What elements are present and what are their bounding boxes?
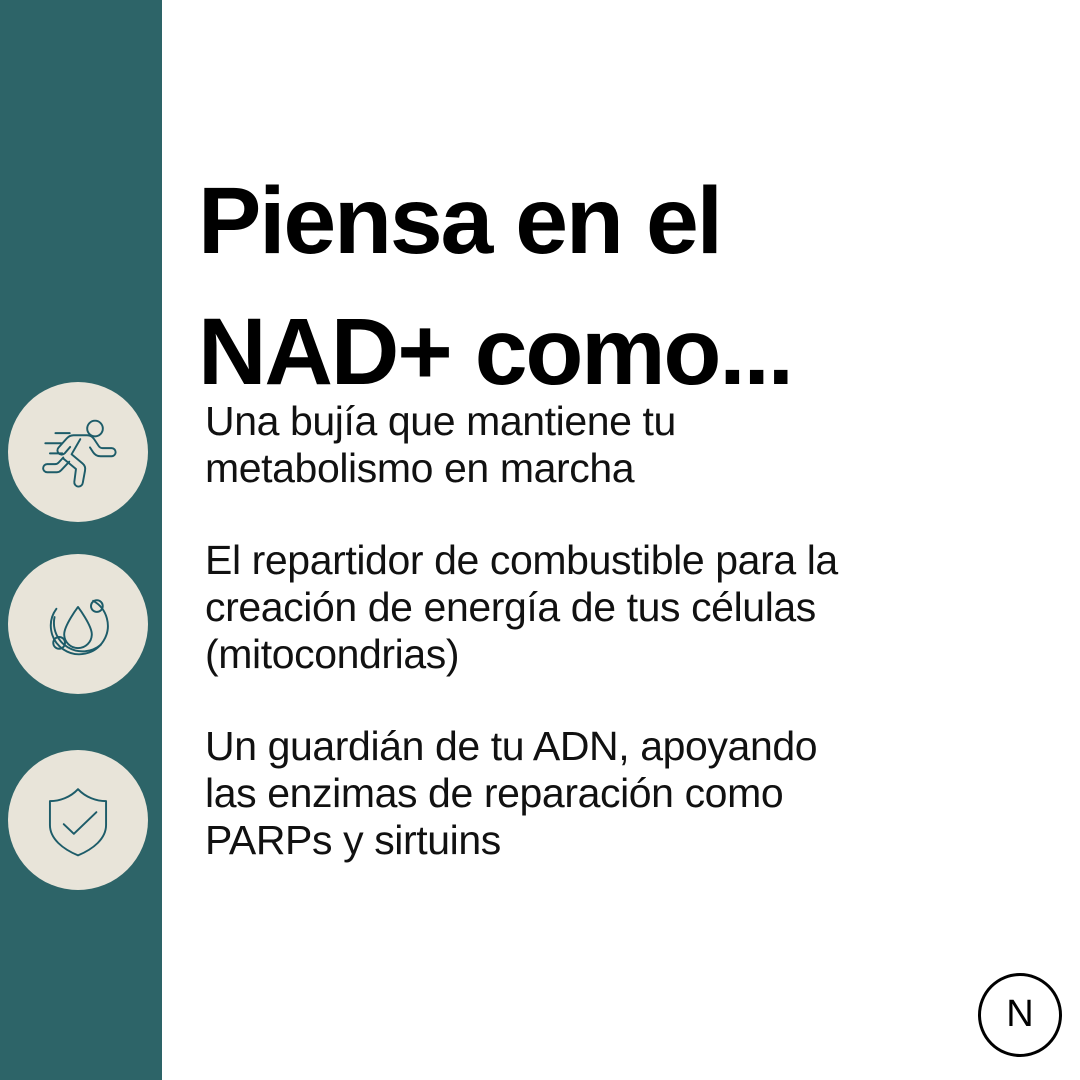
- paragraph-2-line-3: (mitocondrias): [205, 631, 1035, 678]
- badge-running-person: [8, 382, 148, 522]
- brand-logo-letter: N: [1006, 995, 1033, 1035]
- body-paragraph-1: Una bujía que mantiene tu metabolismo en…: [205, 398, 1035, 492]
- brand-logo: N: [978, 973, 1062, 1057]
- headline-line-1: Piensa en el: [198, 156, 988, 287]
- paragraph-1-line-1: Una bujía que mantiene tu: [205, 398, 1035, 445]
- paragraph-2-line-1: El repartidor de combustible para la: [205, 537, 1035, 584]
- body-paragraph-2: El repartidor de combustible para la cre…: [205, 537, 1035, 678]
- left-sidebar: [0, 0, 162, 1080]
- body-copy: Una bujía que mantiene tu metabolismo en…: [205, 398, 1035, 864]
- badge-energy-droplet: [8, 554, 148, 694]
- paragraph-3-line-2: las enzimas de reparación como: [205, 770, 1035, 817]
- energy-droplet-icon: [32, 578, 124, 670]
- paragraph-1-line-2: metabolismo en marcha: [205, 445, 1035, 492]
- paragraph-2-line-2: creación de energía de tus células: [205, 584, 1035, 631]
- badge-shield-check: [8, 750, 148, 890]
- running-person-icon: [32, 406, 124, 498]
- paragraph-3-line-1: Un guardián de tu ADN, apoyando: [205, 723, 1035, 770]
- paragraph-3-line-3: PARPs y sirtuins: [205, 817, 1035, 864]
- shield-check-icon: [32, 774, 124, 866]
- body-paragraph-3: Un guardián de tu ADN, apoyando las enzi…: [205, 723, 1035, 864]
- slide-canvas: Piensa en el NAD+ como... Una bujía que …: [0, 0, 1080, 1080]
- page-title: Piensa en el NAD+ como...: [198, 156, 988, 418]
